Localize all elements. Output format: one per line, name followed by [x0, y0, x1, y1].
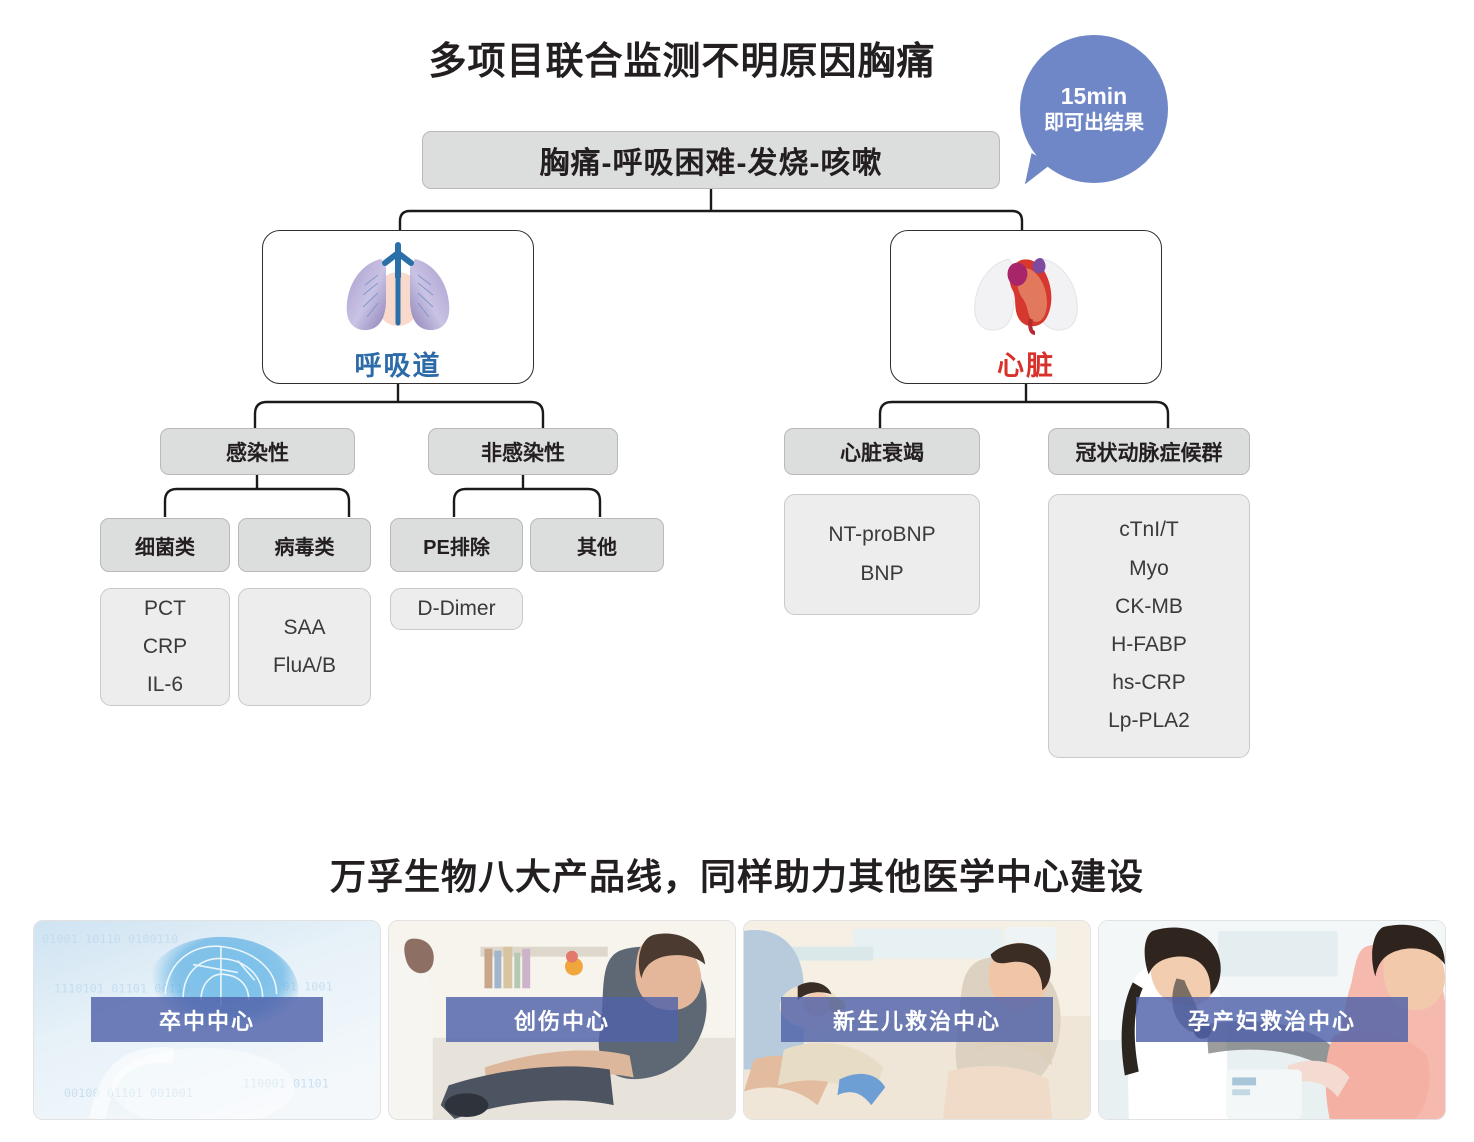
marker-item: H-FABP [1111, 626, 1187, 664]
category-box-coronary-syndrome: 冠状动脉症候群 [1048, 428, 1250, 475]
sub-box-bacterial: 细菌类 [100, 518, 230, 572]
category-box-heart-failure: 心脏衰竭 [784, 428, 980, 475]
page-title: 多项目联合监测不明原因胸痛 [0, 30, 1419, 85]
marker-list-viral: SAA FluA/B [238, 588, 371, 706]
product-card-label: 孕产妇救治中心 [1136, 997, 1408, 1042]
lungs-icon [323, 237, 473, 342]
badge-tail-icon [1025, 153, 1053, 189]
marker-item: FluA/B [273, 647, 336, 685]
marker-list-bacterial: PCT CRP IL-6 [100, 588, 230, 706]
product-card-maternal-center[interactable]: 孕产妇救治中心 [1098, 920, 1446, 1120]
marker-item: CRP [143, 628, 187, 666]
marker-list-heart-failure: NT-proBNP BNP [784, 494, 980, 615]
connector-respiratory-to-categories [150, 384, 650, 432]
marker-item: Lp-PLA2 [1108, 702, 1190, 740]
heart-lungs-icon [951, 237, 1101, 342]
marker-item: cTnI/T [1119, 511, 1179, 549]
marker-list-coronary-syndrome: cTnI/T Myo CK-MB H-FABP hs-CRP Lp-PLA2 [1048, 494, 1250, 758]
marker-list-pe-exclusion: D-Dimer [390, 588, 523, 630]
category-box-infectious: 感染性 [160, 428, 355, 475]
marker-item: CK-MB [1115, 588, 1183, 626]
sub-box-pe-exclusion: PE排除 [390, 518, 523, 572]
sub-box-other: 其他 [530, 518, 664, 572]
organ-card-cardiac[interactable]: 心脏 [890, 230, 1162, 384]
organ-card-respiratory[interactable]: 呼吸道 [262, 230, 534, 384]
marker-item: hs-CRP [1112, 664, 1186, 702]
product-card-label: 新生儿救治中心 [781, 997, 1053, 1042]
marker-item: IL-6 [147, 666, 183, 704]
marker-item: D-Dimer [417, 590, 495, 628]
sub-box-viral: 病毒类 [238, 518, 371, 572]
organ-label-cardiac: 心脏 [997, 344, 1055, 383]
badge-subtext: 即可出结果 [1044, 111, 1144, 136]
marker-item: PCT [144, 590, 186, 628]
root-symptom-box: 胸痛-呼吸困难-发烧-咳嗽 [422, 131, 1000, 189]
poster-root: 多项目联合监测不明原因胸痛 15min 即可出结果 胸痛-呼吸困难-发烧-咳嗽 [0, 0, 1474, 1142]
badge-time: 15min [1061, 82, 1127, 111]
marker-item: BNP [860, 555, 903, 593]
product-card-label: 创伤中心 [446, 997, 678, 1042]
marker-item: SAA [283, 609, 325, 647]
section-title: 万孚生物八大产品线，同样助力其他医学中心建设 [0, 848, 1474, 900]
category-box-noninfectious: 非感染性 [428, 428, 618, 475]
product-card-label: 卒中中心 [91, 997, 323, 1042]
product-card-newborn-center[interactable]: 新生儿救治中心 [743, 920, 1091, 1120]
connector-cardiac-to-categories [780, 384, 1280, 432]
connector-infectious-to-subs [95, 475, 425, 519]
connector-noninfectious-to-subs [390, 475, 690, 519]
organ-label-respiratory: 呼吸道 [355, 344, 442, 383]
product-card-trauma-center[interactable]: 创伤中心 [388, 920, 736, 1120]
svg-text:01001 10110 0100110: 01001 10110 0100110 [42, 932, 178, 946]
marker-item: Myo [1129, 550, 1169, 588]
marker-item: NT-proBNP [828, 516, 935, 554]
product-card-stroke-center[interactable]: 01001 10110 0100110 1110101 01101 00110 … [33, 920, 381, 1120]
